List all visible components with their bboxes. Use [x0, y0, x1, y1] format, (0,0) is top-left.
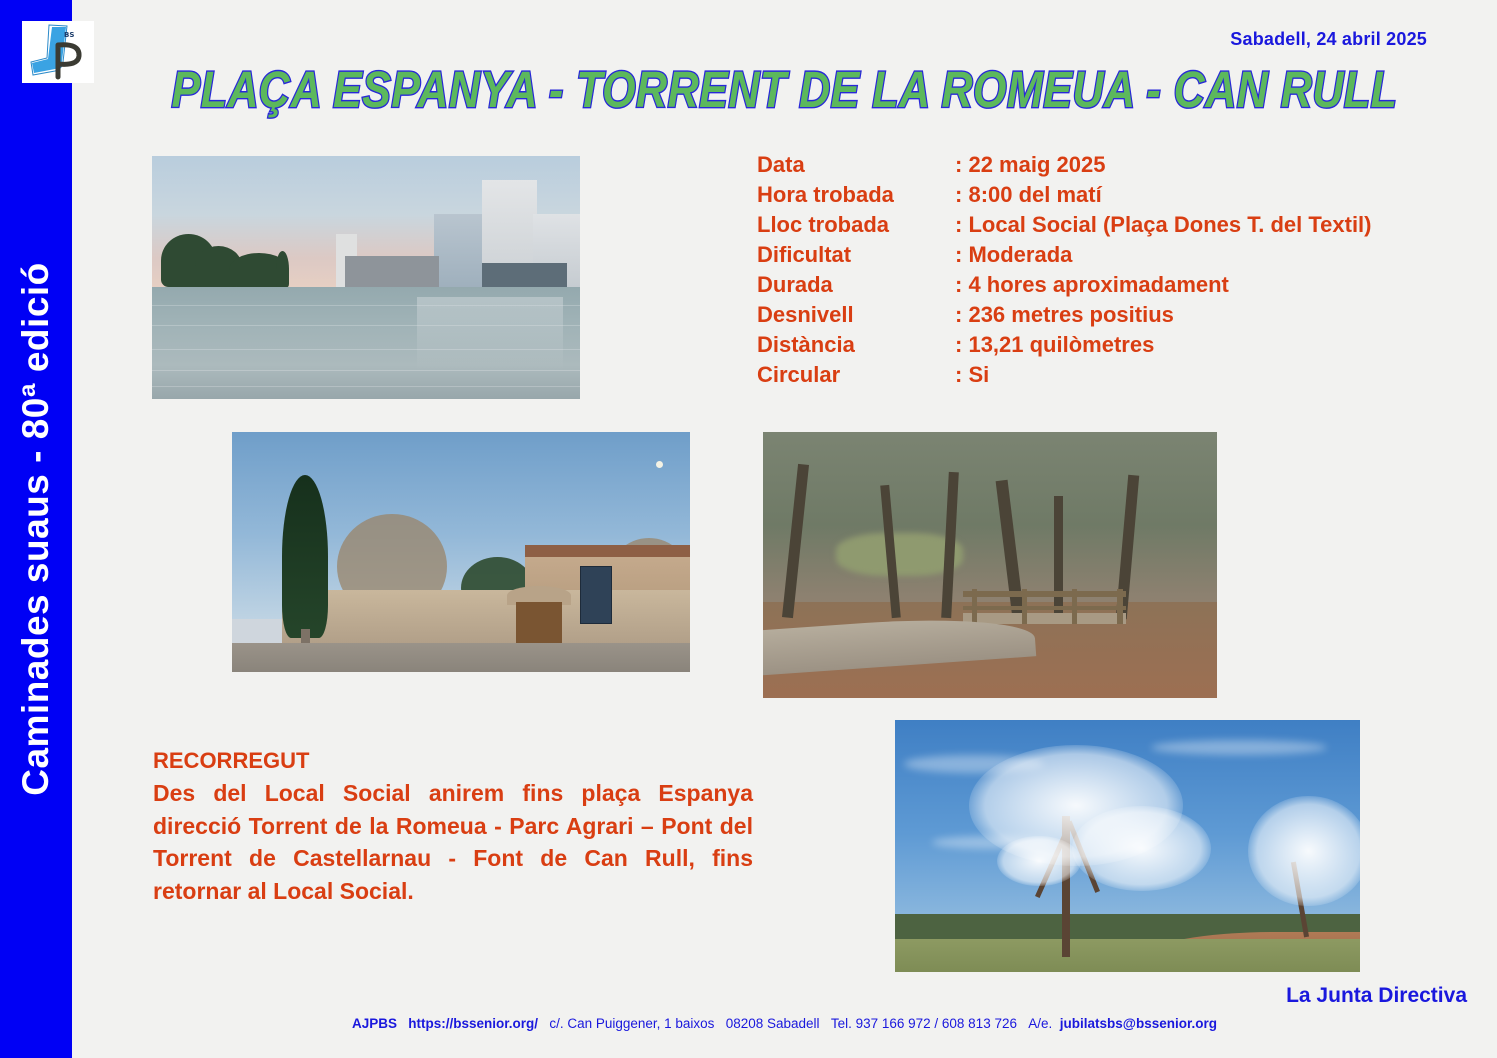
table-row: Circular Si	[757, 362, 1372, 388]
detail-value-dificultat: Moderada	[955, 242, 1072, 268]
route-description: Des del Local Social anirem fins plaça E…	[153, 777, 753, 908]
photo2-roof	[525, 545, 690, 557]
detail-label-data: Data	[757, 152, 955, 178]
table-row: Desnivell 236 metres positius	[757, 302, 1372, 328]
poster-date: Sabadell, 24 abril 2025	[1230, 29, 1427, 50]
photo3-railing-top	[963, 591, 1126, 597]
detail-value-desnivell: 236 metres positius	[955, 302, 1174, 328]
detail-value-durada: 4 hores aproximadament	[955, 272, 1229, 298]
footer-org: AJPBS	[352, 1016, 397, 1031]
detail-value-hora-trobada: 8:00 del matí	[955, 182, 1102, 208]
detail-label-durada: Durada	[757, 272, 955, 298]
photo4-blossom-cluster-2	[1072, 806, 1212, 892]
table-row: Dificultat Moderada	[757, 242, 1372, 268]
footer-contact-bar: AJPBS https://bssenior.org/ c/. Can Puig…	[72, 1016, 1497, 1031]
sidebar-edition-label: Caminades suaus - 80ª edició	[15, 262, 57, 796]
detail-value-circular: Si	[955, 362, 989, 388]
photo-almond-blossom	[895, 720, 1360, 972]
footer-email-label: A/e.	[1028, 1016, 1052, 1031]
photo2-cypress-tree	[282, 475, 328, 638]
detail-value-distancia: 13,21 quilòmetres	[955, 332, 1154, 358]
photo2-ground	[232, 643, 690, 672]
page-title-container: PLAÇA ESPANYA - TORRENT DE LA ROMEUA - C…	[72, 62, 1497, 111]
detail-value-lloc-trobada: Local Social (Plaça Dones T. del Textil)	[955, 212, 1372, 238]
detail-label-desnivell: Desnivell	[757, 302, 955, 328]
detail-label-circular: Circular	[757, 362, 955, 388]
detail-value-data: 22 maig 2025	[955, 152, 1105, 178]
page-title: PLAÇA ESPANYA - TORRENT DE LA ROMEUA - C…	[172, 62, 1398, 120]
detail-label-dificultat: Dificultat	[757, 242, 955, 268]
footer-address: c/. Can Puiggener, 1 baixos	[549, 1016, 714, 1031]
photo4-blossom-cluster-3	[1248, 796, 1360, 907]
detail-label-hora-trobada: Hora trobada	[757, 182, 955, 208]
photo2-moon	[656, 461, 663, 468]
route-heading: RECORREGUT	[153, 748, 753, 774]
photo1-lowrise	[345, 256, 439, 288]
route-section: RECORREGUT Des del Local Social anirem f…	[153, 748, 753, 908]
photo3-railing-mid	[963, 606, 1126, 610]
footer-postal-city: 08208 Sabadell	[726, 1016, 820, 1031]
photo4-grass-field	[895, 939, 1360, 972]
table-row: Data 22 maig 2025	[757, 152, 1372, 178]
footer-website-link[interactable]: https://bssenior.org/	[408, 1016, 538, 1031]
table-row: Durada 4 hores aproximadament	[757, 272, 1372, 298]
photo2-wooden-gate	[516, 602, 562, 643]
photo1-dark-block	[482, 263, 568, 287]
table-row: Hora trobada 8:00 del matí	[757, 182, 1372, 208]
detail-label-lloc-trobada: Lloc trobada	[757, 212, 955, 238]
photo2-la-masia-sign	[580, 566, 612, 624]
footer-phone: Tel. 937 166 972 / 608 813 726	[831, 1016, 1017, 1031]
photo3-railing-post-2	[1022, 589, 1027, 624]
left-sidebar-banner: Caminades suaus - 80ª edició	[0, 0, 72, 1058]
photo3-railing-post-4	[1117, 589, 1122, 624]
photo-riverfront-skyline	[152, 156, 580, 399]
photo1-cypress	[276, 251, 289, 287]
photo2-stone-wall	[282, 590, 690, 643]
photo-masia-farmhouse	[232, 432, 690, 672]
svg-text:BS: BS	[64, 31, 74, 39]
table-row: Lloc trobada Local Social (Plaça Dones T…	[757, 212, 1372, 238]
photo3-railing-post-1	[972, 589, 977, 624]
photo1-glass-block	[434, 214, 481, 287]
signoff-text: La Junta Directiva	[1286, 984, 1467, 1008]
photo1-reflection	[417, 297, 563, 370]
photo-forest-footbridge	[763, 432, 1217, 698]
footer-email-link[interactable]: jubilatsbs@bssenior.org	[1060, 1016, 1217, 1031]
photo3-railing-post-3	[1072, 589, 1077, 624]
photo4-blossom-cluster-4	[997, 836, 1081, 886]
walk-details-table: Data 22 maig 2025 Hora trobada 8:00 del …	[757, 152, 1372, 392]
photo3-trunk-5	[1054, 496, 1063, 618]
detail-label-distancia: Distància	[757, 332, 955, 358]
table-row: Distància 13,21 quilòmetres	[757, 332, 1372, 358]
